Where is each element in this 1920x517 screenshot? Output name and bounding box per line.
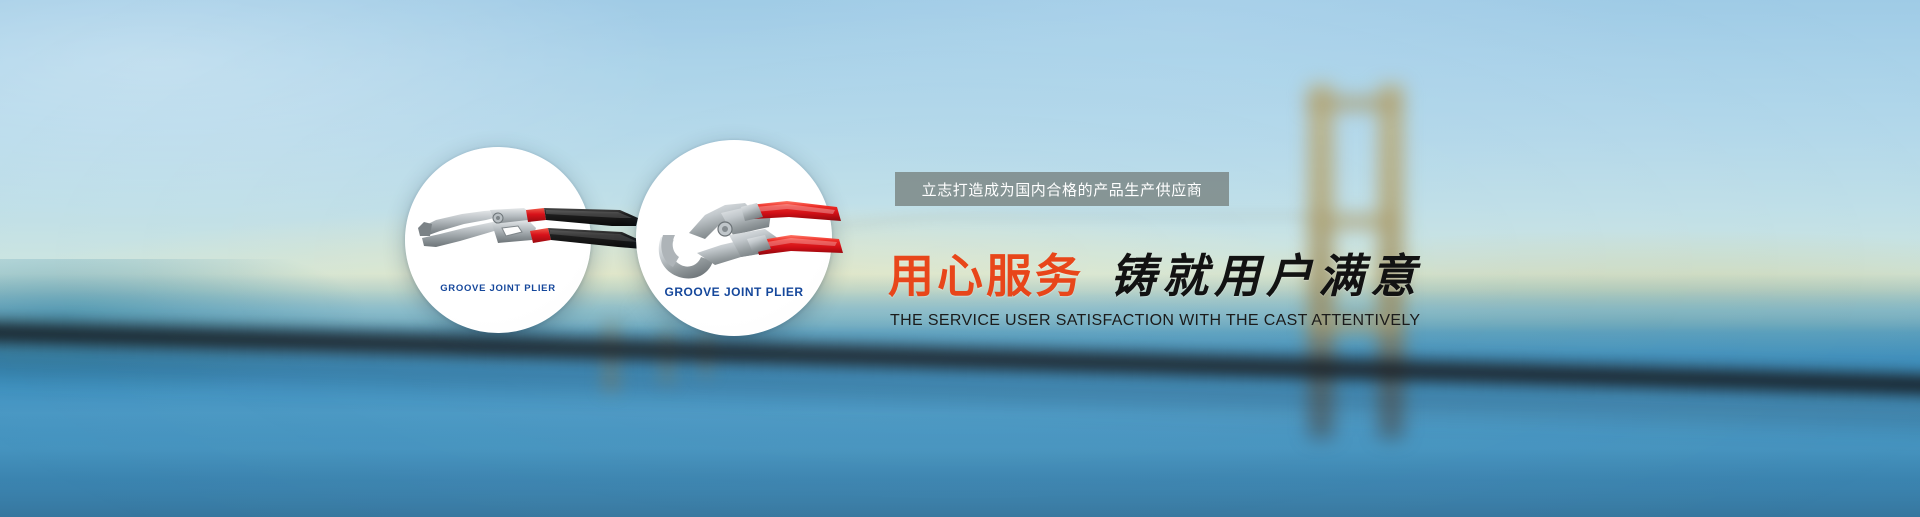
promo-banner: GROOVE JOINT PLIER — [0, 0, 1920, 517]
subheadline-text: THE SERVICE USER SATISFACTION WITH THE C… — [890, 312, 1420, 330]
product-caption-2: GROOVE JOINT PLIER — [637, 285, 831, 299]
product-circle-1[interactable]: GROOVE JOINT PLIER — [405, 147, 591, 333]
groove-joint-plier-black-icon — [406, 148, 592, 334]
product-image-1 — [406, 148, 590, 332]
headline: 用心服务 铸就用户满意 — [888, 244, 1422, 308]
headline-dark-text: 铸就用户满意 — [1110, 253, 1422, 299]
groove-joint-plier-red-icon — [637, 141, 833, 337]
product-circle-2[interactable]: GROOVE JOINT PLIER — [636, 140, 832, 336]
product-image-2 — [637, 141, 831, 335]
tagline-bar: 立志打造成为国内合格的产品生产供应商 — [895, 172, 1229, 206]
tagline-text: 立志打造成为国内合格的产品生产供应商 — [922, 179, 1203, 200]
product-caption-1: GROOVE JOINT PLIER — [406, 283, 590, 294]
headline-accent-text: 用心服务 — [888, 253, 1084, 299]
